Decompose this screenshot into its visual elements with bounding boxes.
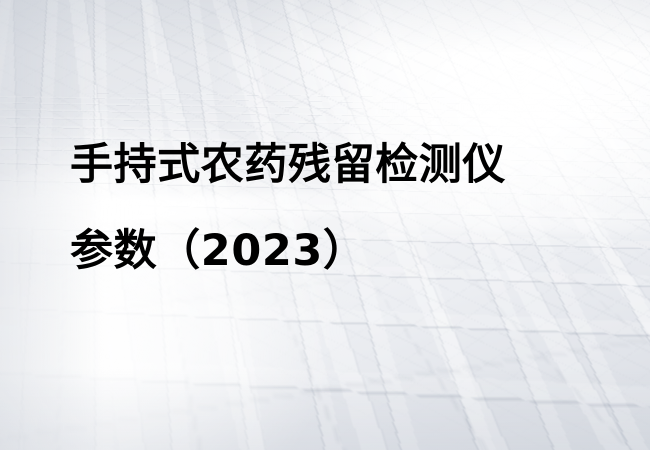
page-title-line-2: 参数（2023）: [70, 208, 610, 294]
page-title: 手持式农药残留检测仪 参数（2023）: [70, 122, 610, 294]
title-slide: 手持式农药残留检测仪 参数（2023）: [0, 0, 650, 450]
page-title-line-1: 手持式农药残留检测仪: [70, 122, 610, 208]
